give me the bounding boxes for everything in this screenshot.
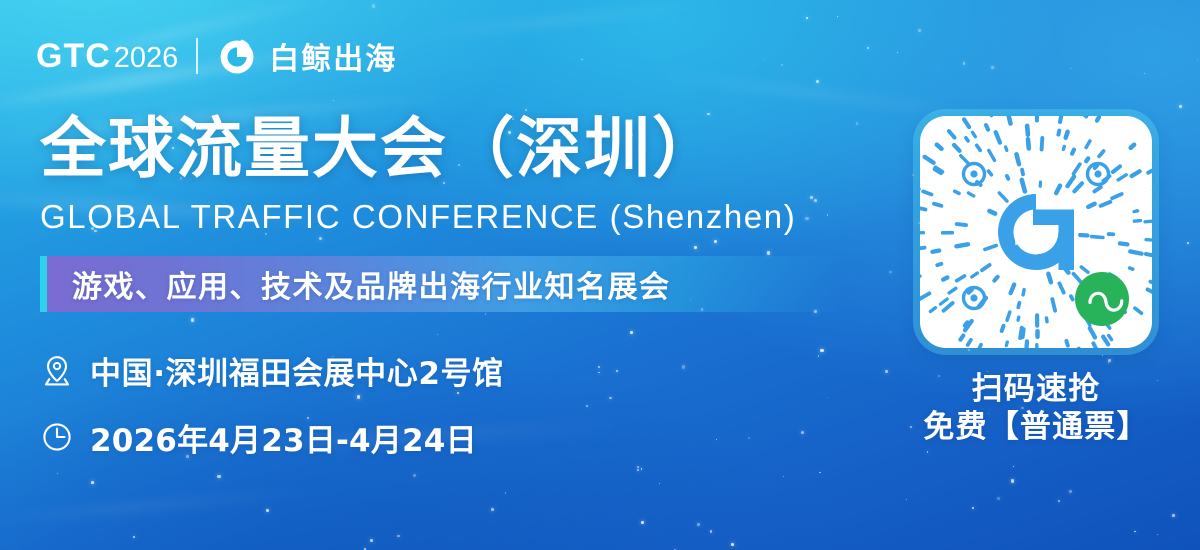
whale-g-logo-icon [998,194,1074,270]
brand-name-text: 白鲸出海 [269,34,397,78]
wechat-miniprogram-badge-icon [1075,272,1129,326]
qr-block: 扫码速抢 免费【普通票】 [914,116,1158,447]
tagline-text: 游戏、应用、技术及品牌出海行业知名展会 [72,256,671,312]
tagline-accent-bar [40,256,47,312]
event-location-text: 中国·深圳福田会展中心2号馆 [90,348,504,393]
event-banner: GTC 2026 白鲸出海 全球流量大会（深圳） GLOBAL TRAFFIC … [0,0,1200,550]
event-location-row: 中国·深圳福田会展中心2号馆 [40,348,860,393]
qr-cta-text: 扫码速抢 免费【普通票】 [923,370,1148,447]
gtc-logo-year: 2026 [114,42,179,75]
brand-logo: 白鲸出海 [216,34,397,78]
page-subtitle: GLOBAL TRAFFIC CONFERENCE (Shenzhen) [40,198,860,236]
whale-g-logo-icon [216,35,258,77]
event-info-list: 中国·深圳福田会展中心2号馆 2026年4月23日-4月24日 [40,348,860,460]
logo-divider [196,38,198,74]
page-title: 全球流量大会（深圳） [40,112,860,186]
tagline-band: 游戏、应用、技术及品牌出海行业知名展会 [40,256,840,312]
qr-cta-line2: 免费【普通票】 [923,408,1148,446]
clock-icon [40,420,74,454]
location-pin-icon [40,353,74,387]
gtc-logo: GTC 2026 [36,37,178,76]
gtc-logo-text: GTC [36,37,111,76]
event-date-text: 2026年4月23日-4月24日 [90,415,477,460]
main-content: 全球流量大会（深圳） GLOBAL TRAFFIC CONFERENCE (Sh… [40,112,860,482]
header-logo-row: GTC 2026 白鲸出海 [36,32,397,80]
wechat-miniprogram-qr-icon[interactable] [920,116,1152,348]
event-date-row: 2026年4月23日-4月24日 [40,415,860,460]
qr-cta-line1: 扫码速抢 [923,370,1148,408]
